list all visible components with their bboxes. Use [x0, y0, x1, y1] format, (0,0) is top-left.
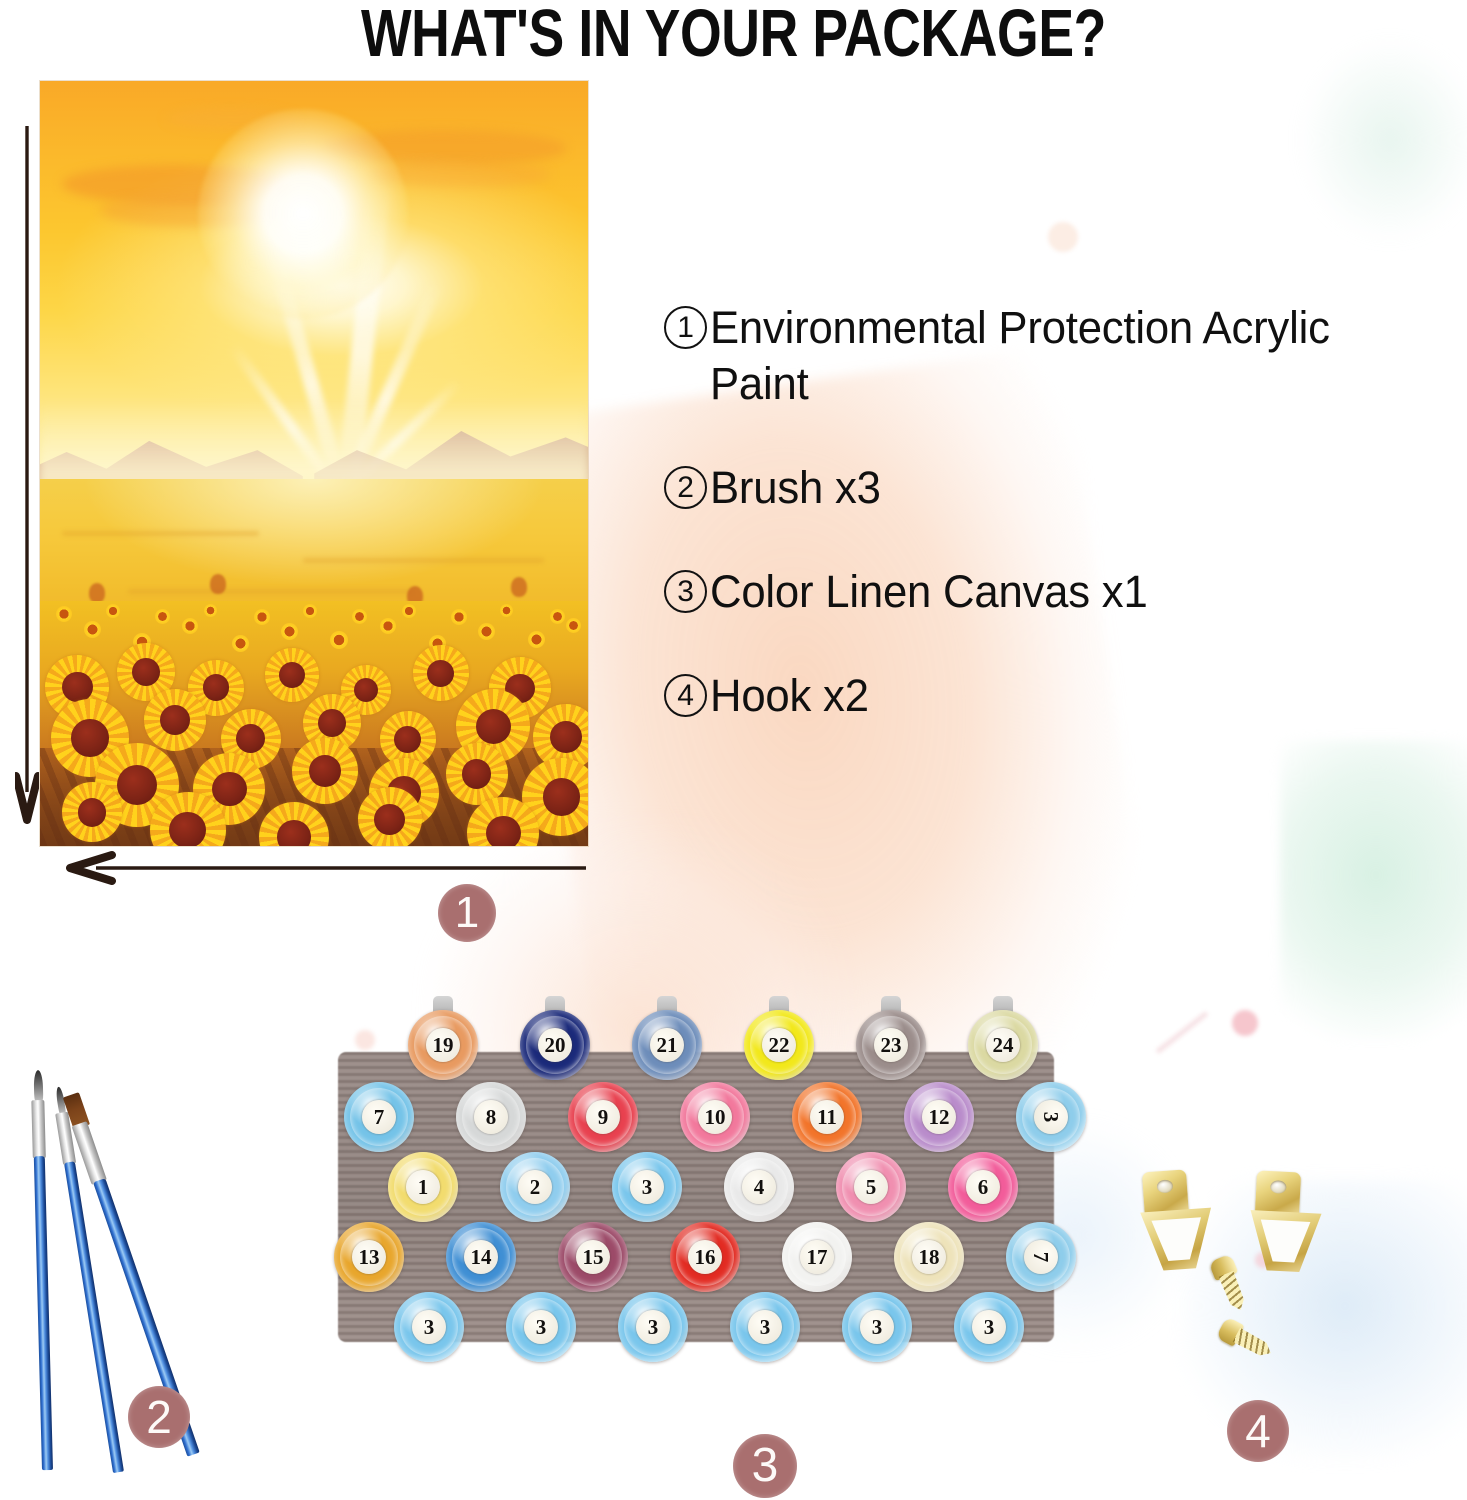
paint-pot-5: 5 [836, 1152, 906, 1222]
sunflower-center [279, 662, 305, 688]
paint-pot-7: 7 [344, 1082, 414, 1152]
sunflower-distant [303, 604, 317, 618]
brush-handle [34, 1156, 53, 1470]
sunflower-center [486, 816, 521, 846]
sunflower-distant [451, 609, 467, 625]
paint-pot-3: 3 [842, 1292, 912, 1362]
pot-number-label: 3 [972, 1310, 1006, 1344]
paint-pot-3: 3 [1016, 1082, 1086, 1152]
peach-dot [1048, 222, 1078, 252]
sunflower-distant [500, 604, 513, 617]
sunflower-distant [254, 609, 270, 625]
paint-pot-3: 3 [730, 1292, 800, 1362]
paint-pot-3: 3 [954, 1292, 1024, 1362]
paint-pot-7: 7 [1006, 1222, 1076, 1292]
sun-icon [198, 109, 408, 319]
sunflower [144, 689, 206, 751]
sunflower-distant [528, 631, 545, 648]
sunflower-center [427, 660, 454, 687]
paint-pot-23: 23 [856, 1010, 926, 1080]
paint-pot-3: 3 [612, 1152, 682, 1222]
list-item: 4 Hook x2 [664, 668, 1364, 724]
screw-shaft [1233, 1328, 1275, 1360]
width-arrow [62, 850, 590, 886]
paint-pot-3: 3 [506, 1292, 576, 1362]
list-number-3: 3 [664, 570, 707, 613]
list-label-2: Brush x3 [710, 460, 1344, 516]
pot-number-label: 13 [352, 1240, 386, 1274]
brush-ferrule [31, 1100, 46, 1158]
sunflower-distant [352, 609, 367, 624]
page-title: WHAT'S IN YOUR PACKAGE? [147, 0, 1321, 70]
pot-number-label: 3 [524, 1310, 558, 1344]
pot-number-label: 3 [630, 1170, 664, 1204]
list-label-1: Environmental Protection Acrylic Paint [710, 300, 1344, 412]
sunset-sky [40, 81, 588, 525]
sunflower-center [160, 705, 190, 735]
tree [89, 583, 105, 603]
sunflower [62, 782, 122, 842]
acrylic-paint-tray: 1920212223247891011123123456131415161718… [316, 1000, 1076, 1400]
list-item: 3 Color Linen Canvas x1 [664, 564, 1364, 620]
badge-paints: 3 [733, 1434, 797, 1498]
pot-number-label: 2 [518, 1170, 552, 1204]
sunflower-field [40, 601, 588, 846]
sunflower-center [78, 798, 107, 827]
pot-number-label: 8 [474, 1100, 508, 1134]
paint-pot-2: 2 [500, 1152, 570, 1222]
paint-pot-22: 22 [744, 1010, 814, 1080]
brush-round-liner [32, 1070, 56, 1470]
sunflower-distant [84, 621, 101, 638]
pot-number-label: 24 [986, 1028, 1020, 1062]
list-number-4: 4 [664, 674, 707, 717]
sunflower [358, 787, 422, 846]
height-arrow [15, 126, 39, 824]
paint-pot-13: 13 [334, 1222, 404, 1292]
sunflower-center [374, 804, 405, 835]
sunflower-center [117, 765, 157, 805]
sunflower-center [543, 778, 580, 815]
pot-number-label: 5 [854, 1170, 888, 1204]
sunflower-center [169, 812, 205, 846]
sunflower-center [62, 672, 93, 703]
sunflower-distant [478, 623, 495, 640]
pot-number-label: 18 [912, 1240, 946, 1274]
badge-canvas: 1 [438, 884, 496, 942]
d-ring-hook [1136, 1167, 1222, 1292]
list-item: 2 Brush x3 [664, 460, 1364, 516]
package-contents-list: 1 Environmental Protection Acrylic Paint… [664, 300, 1364, 772]
sunflower-center [318, 709, 346, 737]
pot-number-label: 3 [412, 1310, 446, 1344]
field-streak [128, 589, 413, 594]
linen-canvas-artwork [40, 81, 588, 846]
sunflower-center [462, 759, 492, 789]
tree [210, 574, 226, 594]
pot-number-label: 19 [426, 1028, 460, 1062]
list-item: 1 Environmental Protection Acrylic Paint [664, 300, 1364, 412]
sunflower-center [476, 709, 512, 745]
sunflower-distant [232, 635, 249, 652]
list-number-2: 2 [664, 466, 707, 509]
paint-pot-21: 21 [632, 1010, 702, 1080]
sunflower-distant [106, 604, 120, 618]
sunflower [446, 743, 508, 805]
pink-dot [1232, 1010, 1258, 1036]
sunflower-distant [550, 609, 565, 624]
sunflower-distant [402, 604, 416, 618]
pot-number-label: 16 [688, 1240, 722, 1274]
pot-number-label: 15 [576, 1240, 610, 1274]
pot-number-label: 20 [538, 1028, 572, 1062]
sunflower-center [309, 755, 341, 787]
list-label-4: Hook x2 [710, 668, 1344, 724]
hanging-hooks-group [1140, 1170, 1420, 1420]
paint-pot-18: 18 [894, 1222, 964, 1292]
pot-number-label: 3 [1034, 1100, 1068, 1134]
paint-pot-20: 20 [520, 1010, 590, 1080]
pot-number-label: 6 [966, 1170, 1000, 1204]
pot-number-label: 7 [362, 1100, 396, 1134]
paint-pot-17: 17 [782, 1222, 852, 1292]
sunflower [265, 648, 319, 702]
list-number-1: 1 [664, 306, 707, 349]
paint-pot-3: 3 [394, 1292, 464, 1362]
paint-pot-4: 4 [724, 1152, 794, 1222]
pot-number-label: 10 [698, 1100, 732, 1134]
field-streak [62, 531, 259, 536]
pot-number-label: 3 [748, 1310, 782, 1344]
badge-hooks: 4 [1227, 1400, 1289, 1462]
pot-number-label: 14 [464, 1240, 498, 1274]
paint-pot-24: 24 [968, 1010, 1038, 1080]
pot-number-label: 3 [636, 1310, 670, 1344]
pot-number-label: 21 [650, 1028, 684, 1062]
sunflower-center [277, 820, 311, 846]
badge-brushes: 2 [128, 1386, 190, 1448]
paint-pot-11: 11 [792, 1082, 862, 1152]
sunflower-distant [281, 623, 298, 640]
paint-pot-1: 1 [388, 1152, 458, 1222]
paint-pot-3: 3 [618, 1292, 688, 1362]
paint-pot-14: 14 [446, 1222, 516, 1292]
tree [511, 577, 527, 597]
mint-splash-top [1300, 40, 1467, 240]
pot-number-label: 12 [922, 1100, 956, 1134]
paint-pot-16: 16 [670, 1222, 740, 1292]
list-label-3: Color Linen Canvas x1 [710, 564, 1344, 620]
sunflower-distant [204, 604, 217, 617]
sunflower [292, 738, 358, 804]
sunflower-center [394, 726, 421, 753]
pot-number-label: 4 [742, 1170, 776, 1204]
pot-number-label: 7 [1024, 1240, 1058, 1274]
pot-number-label: 22 [762, 1028, 796, 1062]
paint-pot-15: 15 [558, 1222, 628, 1292]
sunflower-distant [566, 618, 581, 633]
screw [1216, 1316, 1277, 1363]
sunflower-center [212, 772, 247, 807]
paint-pot-12: 12 [904, 1082, 974, 1152]
paint-pot-6: 6 [948, 1152, 1018, 1222]
sunflower-center [71, 719, 108, 756]
sunflower-distant [56, 606, 72, 622]
sunflower-distant [155, 609, 170, 624]
pot-number-label: 17 [800, 1240, 834, 1274]
field-streak [303, 558, 544, 563]
d-ring-hook [1245, 1170, 1329, 1294]
pot-number-label: 9 [586, 1100, 620, 1134]
pot-number-label: 1 [406, 1170, 440, 1204]
sunflower-distant [330, 631, 348, 649]
sunflower-center [132, 658, 160, 686]
paint-pot-8: 8 [456, 1082, 526, 1152]
sunflower [413, 645, 469, 701]
paint-pot-9: 9 [568, 1082, 638, 1152]
screw-shaft [1218, 1271, 1247, 1313]
pot-number-label: 11 [810, 1100, 844, 1134]
sunflower-center [550, 721, 582, 753]
paint-pot-10: 10 [680, 1082, 750, 1152]
sunflower-distant [182, 618, 198, 634]
mint-splash [1280, 740, 1467, 1040]
sunflower-distant [380, 618, 396, 634]
pink-streak [1155, 1011, 1209, 1054]
paint-pot-19: 19 [408, 1010, 478, 1080]
pot-number-label: 3 [860, 1310, 894, 1344]
pot-number-label: 23 [874, 1028, 908, 1062]
